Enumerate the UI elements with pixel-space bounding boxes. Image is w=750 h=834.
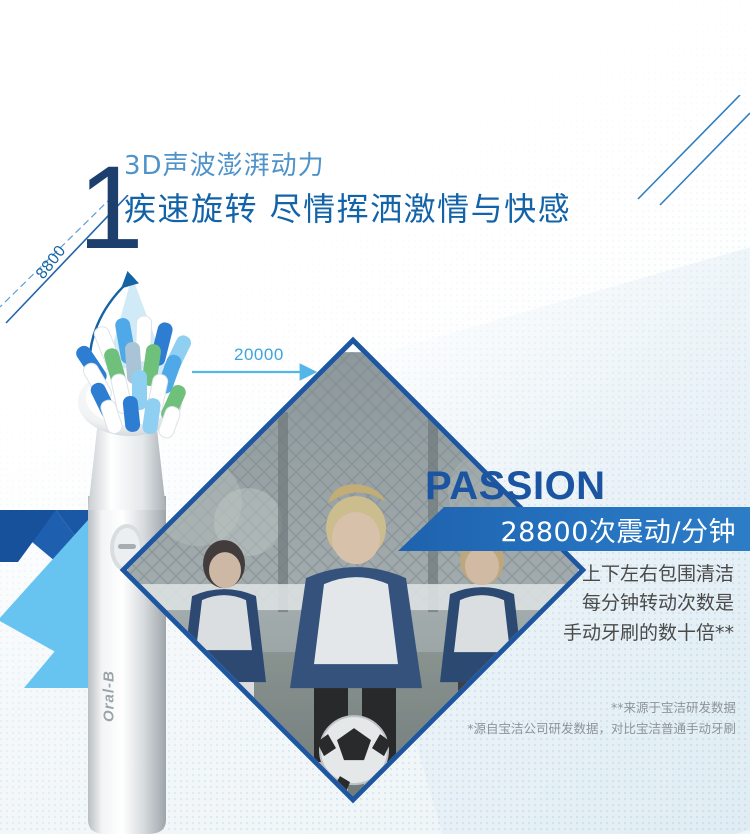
body-copy-line-2: 每分钟转动次数是 bbox=[434, 589, 734, 618]
headline-subtitle: 3D声波澎湃动力 bbox=[124, 152, 571, 182]
vibration-banner: 28800次震动/分钟 bbox=[398, 507, 750, 551]
body-copy: 上下左右包围清洁 每分钟转动次数是 手动牙刷的数十倍** bbox=[434, 560, 734, 648]
oral-b-logo: Oral-B bbox=[96, 648, 122, 744]
headline-block: 3D声波澎湃动力 疾速旋转 尽情挥洒激情与快感 bbox=[124, 152, 571, 228]
marketing-banner: 1 3D声波澎湃动力 疾速旋转 尽情挥洒激情与快感 8800 20000 bbox=[0, 0, 750, 834]
body-copy-line-3: 手动牙刷的数十倍** bbox=[434, 619, 734, 648]
footnote-line-2: *源自宝洁公司研发数据，对比宝洁普通手动牙刷 bbox=[316, 718, 736, 739]
passion-heading: PASSION bbox=[425, 466, 606, 506]
vibration-banner-text: 28800次震动/分钟 bbox=[398, 507, 736, 551]
decor-diagonal-lines-top-right bbox=[600, 95, 750, 225]
body-copy-line-1: 上下左右包围清洁 bbox=[434, 560, 734, 589]
footnote-line-1: **来源于宝洁研发数据 bbox=[316, 697, 736, 718]
headline-title: 疾速旋转 尽情挥洒激情与快感 bbox=[124, 190, 571, 228]
footnotes: **来源于宝洁研发数据 *源自宝洁公司研发数据，对比宝洁普通手动牙刷 bbox=[316, 697, 736, 740]
